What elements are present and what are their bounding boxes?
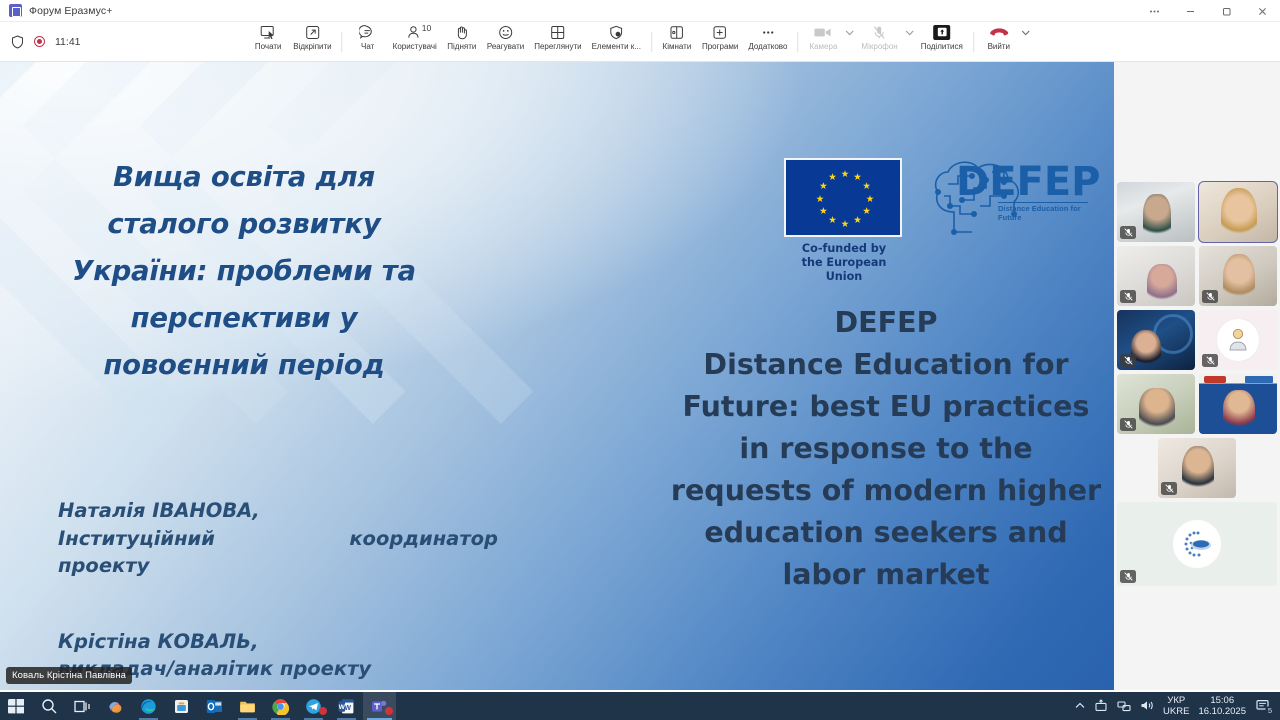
- volume-icon[interactable]: [1140, 699, 1154, 714]
- toolbar-reactions-button[interactable]: Реагувати: [482, 22, 529, 52]
- window-more-button[interactable]: [1136, 0, 1172, 22]
- close-button[interactable]: [1244, 0, 1280, 22]
- record-icon: [34, 36, 45, 47]
- toolbar-divider-3: [797, 32, 798, 52]
- leave-chevron-down-icon[interactable]: [1019, 22, 1032, 36]
- hang-up-icon: [989, 24, 1009, 41]
- camera-off-icon: [814, 24, 832, 41]
- avatar: [1217, 319, 1259, 361]
- toolbar-divider-4: [973, 32, 974, 52]
- toolbar-raisehand-label: Підняти: [447, 42, 476, 52]
- teams-icon: [9, 4, 22, 17]
- reactions-icon: [498, 24, 513, 41]
- toolbar-roomcontrols-button[interactable]: Елементи к...: [587, 22, 646, 52]
- file-explorer-button[interactable]: [231, 692, 264, 720]
- presenter-2-name: Крістіна КОВАЛЬ,: [58, 628, 498, 656]
- share-screen-icon: [933, 24, 950, 41]
- toolbar-roomcontrols-label: Елементи к...: [592, 42, 641, 52]
- toolbar-rooms-button[interactable]: Кімнати: [657, 22, 697, 52]
- slide-subtitle-line-1: DEFEP: [660, 302, 1112, 344]
- participant-tile[interactable]: [1117, 310, 1195, 370]
- slide-logos: ★★★★★★★★★★★★ Co-funded by the European U…: [784, 158, 1088, 284]
- toolbar-chat-button[interactable]: Чат: [348, 22, 388, 52]
- slide-title-line-4: перспективи у: [44, 295, 444, 342]
- clock-time: 15:06: [1198, 695, 1246, 706]
- pop-out-icon: [305, 24, 320, 41]
- eu-logo-caption: Co-funded by the European Union: [784, 242, 904, 284]
- window-controls: [1136, 0, 1280, 22]
- presenter-1-role-tail: проекту: [58, 552, 498, 580]
- clock-date: 16.10.2025: [1198, 706, 1246, 717]
- toolbar-camera-button[interactable]: Камера: [803, 22, 843, 52]
- svg-text:W: W: [339, 704, 346, 711]
- toolbar-more-label: Додатково: [748, 42, 787, 52]
- search-button[interactable]: [33, 692, 66, 720]
- toolbar-apps-label: Програми: [702, 42, 738, 52]
- eu-star: ★: [853, 216, 863, 226]
- slide-title-line-1: Вища освіта для: [44, 154, 444, 201]
- toolbar-reactions-label: Реагувати: [487, 42, 524, 52]
- eu-star: ★: [865, 195, 875, 205]
- screen-share-start-icon: [260, 24, 276, 41]
- title-bar-left: Форум Еразмус+: [0, 4, 112, 17]
- presenter-1-role-left: Інституційний: [58, 525, 215, 553]
- notifications-icon[interactable]: 5: [1255, 699, 1272, 714]
- raise-hand-icon: [455, 24, 469, 41]
- eu-star: ★: [862, 182, 872, 192]
- participant-tile[interactable]: [1199, 310, 1277, 370]
- edge-button[interactable]: [132, 692, 165, 720]
- network-icon[interactable]: [1117, 699, 1131, 714]
- meeting-status-group: 11:41: [0, 35, 81, 49]
- presentation-slide: Вища освіта для сталого розвитку України…: [0, 62, 1114, 690]
- eu-caption-line-1: Co-funded by: [784, 242, 904, 256]
- toolbar-raisehand-button[interactable]: Підняти: [442, 22, 482, 52]
- defep-circuit-brain-icon: [918, 154, 1088, 250]
- clock[interactable]: 15:06 16.10.2025: [1198, 695, 1246, 717]
- toolbar-start-button[interactable]: Почати: [248, 22, 288, 52]
- language-line-1: УКР: [1163, 695, 1189, 706]
- slide-subtitle-line-7: labor market: [660, 554, 1112, 596]
- eu-star: ★: [840, 220, 850, 230]
- toolbar-view-label: Переглянути: [534, 42, 581, 52]
- mic-off-icon: [1120, 354, 1136, 367]
- toolbar-view-button[interactable]: Переглянути: [529, 22, 586, 52]
- system-tray: УКР UKRE 15:06 16.10.2025 5: [1075, 695, 1280, 717]
- eu-star: ★: [815, 195, 825, 205]
- toolbar-start-label: Почати: [255, 42, 282, 52]
- toolbar-share-label: Поділитися: [921, 42, 963, 52]
- presenter-1: Наталія ІВАНОВА, Інституційний координат…: [58, 497, 498, 580]
- toolbar-divider-2: [651, 32, 652, 52]
- windows-taskbar: WW УКР UKRE 15:06 16.10.2025 5: [0, 692, 1280, 720]
- participant-tile[interactable]: [1199, 374, 1277, 434]
- toolbar-microphone-label: Мікрофон: [861, 42, 897, 52]
- shield-icon[interactable]: [11, 35, 24, 49]
- participant-tile[interactable]: [1117, 502, 1277, 586]
- meeting-toolbar: 11:41 Почати Відкріпити Чат 10: [0, 22, 1280, 62]
- slide-subtitle-line-3: Future: best EU practices: [660, 386, 1112, 428]
- mic-off-icon: [873, 24, 887, 41]
- toolbar-leave-label: Вийти: [988, 42, 1010, 52]
- eu-caption-line-2: the European Union: [784, 256, 904, 284]
- mic-off-icon: [1120, 418, 1136, 431]
- task-view-button[interactable]: [66, 692, 99, 720]
- slide-subtitle: DEFEP Distance Education for Future: bes…: [660, 302, 1112, 596]
- slide-subtitle-line-6: education seekers and: [660, 512, 1112, 554]
- slide-title: Вища освіта для сталого розвитку України…: [44, 154, 444, 389]
- mic-off-icon: [1202, 354, 1218, 367]
- slide-subtitle-line-2: Distance Education for: [660, 344, 1112, 386]
- camera-chevron-down-icon[interactable]: [843, 22, 856, 36]
- safely-remove-icon[interactable]: [1094, 699, 1108, 714]
- language-indicator[interactable]: УКР UKRE: [1163, 695, 1189, 717]
- notification-count: 5: [1265, 706, 1275, 716]
- outlook-button[interactable]: [198, 692, 231, 720]
- microsoft-store-button[interactable]: [165, 692, 198, 720]
- toolbar-rooms-label: Кімнати: [663, 42, 692, 52]
- slide-subtitle-line-4: in response to the: [660, 428, 1112, 470]
- slide-title-line-3: України: проблеми та: [44, 248, 444, 295]
- window-title: Форум Еразмус+: [29, 5, 112, 17]
- presenter-name-chip: Коваль Крістіна Павлівна: [6, 667, 132, 684]
- eu-star: ★: [818, 182, 828, 192]
- view-grid-icon: [550, 24, 565, 41]
- language-line-2: UKRE: [1163, 706, 1189, 717]
- slide-title-line-2: сталого розвитку: [44, 201, 444, 248]
- people-icon: [407, 24, 423, 41]
- toolbar-participants-button[interactable]: 10 Користувачі: [388, 22, 442, 52]
- slide-title-line-5: повоєнний період: [44, 342, 444, 389]
- eu-star: ★: [828, 173, 838, 183]
- toolbar-share-button[interactable]: Поділитися: [916, 22, 968, 52]
- apps-plus-icon: [713, 24, 728, 41]
- teams-button[interactable]: [363, 692, 396, 720]
- chrome-button[interactable]: [264, 692, 297, 720]
- breakout-rooms-icon: [669, 24, 684, 41]
- presenter-1-name: Наталія ІВАНОВА,: [58, 497, 498, 525]
- eu-star: ★: [862, 207, 872, 217]
- toolbar-microphone-button[interactable]: Мікрофон: [856, 22, 902, 52]
- microphone-chevron-down-icon[interactable]: [903, 22, 916, 36]
- eu-logo: ★★★★★★★★★★★★ Co-funded by the European U…: [784, 158, 904, 284]
- toolbar-leave-button[interactable]: Вийти: [979, 22, 1019, 52]
- participants-rail[interactable]: [1114, 62, 1280, 690]
- participant-tile[interactable]: [1199, 182, 1277, 242]
- eu-star: ★: [818, 207, 828, 217]
- eu-star: ★: [840, 170, 850, 180]
- mic-off-icon: [1202, 290, 1218, 303]
- toolbar-participants-label: Користувачі: [393, 42, 437, 52]
- slide-subtitle-line-5: requests of modern higher: [660, 470, 1112, 512]
- toolbar-divider-1: [342, 32, 343, 52]
- copilot-button[interactable]: [99, 692, 132, 720]
- toolbar-popout-label: Відкріпити: [293, 42, 331, 52]
- toolbar-popout-button[interactable]: Відкріпити: [288, 22, 336, 52]
- participant-tile[interactable]: [1117, 374, 1195, 434]
- word-button[interactable]: WW: [330, 692, 363, 720]
- telegram-button[interactable]: [297, 692, 330, 720]
- defep-logo: DEFEP Distance Education for Future: [918, 158, 1088, 225]
- eu-star: ★: [828, 216, 838, 226]
- participant-tile[interactable]: [1199, 246, 1277, 306]
- window-title-bar: Форум Еразмус+: [0, 0, 1280, 22]
- toolbar-camera-label: Камера: [809, 42, 837, 52]
- participants-count-badge: 10: [422, 23, 431, 33]
- mic-off-icon: [1120, 290, 1136, 303]
- maximize-button[interactable]: [1208, 0, 1244, 22]
- mic-off-icon: [1120, 570, 1136, 583]
- participant-tile[interactable]: [1117, 246, 1195, 306]
- room-controls-icon: [608, 24, 624, 41]
- slide-presenters: Наталія ІВАНОВА, Інституційний координат…: [58, 497, 498, 683]
- toolbar-apps-button[interactable]: Програми: [697, 22, 743, 52]
- participants-grid: [1117, 182, 1277, 586]
- participant-tile[interactable]: [1117, 182, 1195, 242]
- eu-flag-icon: ★★★★★★★★★★★★: [784, 158, 902, 237]
- minimize-button[interactable]: [1172, 0, 1208, 22]
- chat-icon: [360, 24, 376, 41]
- start-button[interactable]: [0, 692, 33, 720]
- toolbar-chat-label: Чат: [361, 42, 374, 52]
- toolbar-actions: Почати Відкріпити Чат 10 Користувачі: [248, 22, 1032, 62]
- presenter-1-role-right: координатор: [349, 525, 498, 553]
- mic-off-icon: [1120, 226, 1136, 239]
- recording-timer: 11:41: [55, 36, 81, 48]
- chevron-up-icon[interactable]: [1075, 701, 1085, 711]
- toolbar-more-button[interactable]: Додатково: [743, 22, 792, 52]
- participant-tile[interactable]: [1158, 438, 1236, 498]
- mic-off-icon: [1161, 482, 1177, 495]
- avatar: [1173, 520, 1221, 568]
- shared-content-stage[interactable]: Вища освіта для сталого розвитку України…: [0, 62, 1114, 690]
- svg-text:W: W: [344, 704, 351, 711]
- presenter-spacer: [58, 580, 498, 628]
- more-dots-icon: [760, 24, 776, 41]
